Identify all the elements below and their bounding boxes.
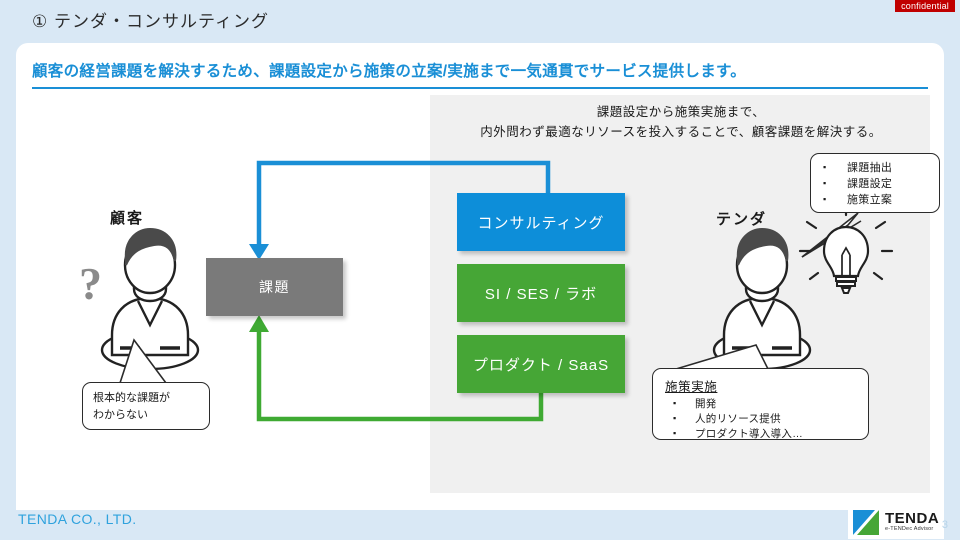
slide-card: 顧客の経営課題を解決するため、課題設定から施策の立案/実施まで一気通貫でサービス… xyxy=(16,43,944,510)
customer-pain-line-2: わからない xyxy=(93,407,209,424)
footer-company-name: TENDA CO., LTD. xyxy=(18,511,137,527)
tenda-logo-mark-icon xyxy=(853,510,879,535)
execution-callout: 施策実施 開発 人的リソース提供 プロダクト導入導入… xyxy=(652,368,869,440)
tenda-label: テンダ xyxy=(716,208,767,229)
customer-pain-callout: 根本的な課題が わからない xyxy=(82,382,210,430)
customer-label: 顧客 xyxy=(110,207,144,228)
service-box-si-ses-lab[interactable]: SI / SES / ラボ xyxy=(457,264,625,322)
tenda-logo-tagline: e-TENDec Advisor xyxy=(885,527,939,533)
consulting-tasks-list: 課題抽出 課題設定 施策立案 xyxy=(811,160,939,208)
page-number: 3 xyxy=(942,519,948,531)
confidential-badge: confidential xyxy=(895,0,955,12)
list-item: 課題抽出 xyxy=(811,160,939,176)
issue-box: 課題 xyxy=(206,258,343,316)
customer-person-icon xyxy=(102,229,198,383)
customer-pain-line-1: 根本的な課題が xyxy=(93,390,209,407)
list-item: 施策立案 xyxy=(811,192,939,208)
tenda-logo: TENDA e-TENDec Advisor xyxy=(848,505,944,539)
list-item: 人的リソース提供 xyxy=(665,412,868,427)
service-box-consulting[interactable]: コンサルティング xyxy=(457,193,625,251)
execution-tasks-list: 開発 人的リソース提供 プロダクト導入導入… xyxy=(665,397,868,442)
page-title: ① テンダ・コンサルティング xyxy=(32,7,269,32)
list-item: プロダクト導入導入… xyxy=(665,427,868,442)
tenda-logo-name: TENDA xyxy=(885,511,939,526)
list-item: 課題設定 xyxy=(811,176,939,192)
tenda-logo-text: TENDA e-TENDec Advisor xyxy=(885,511,939,533)
consulting-tasks-callout: 課題抽出 課題設定 施策立案 xyxy=(810,153,940,213)
list-item: 開発 xyxy=(665,397,868,412)
question-mark-icon: ? xyxy=(79,261,102,307)
service-box-product-saas[interactable]: プロダクト / SaaS xyxy=(457,335,625,393)
execution-callout-title: 施策実施 xyxy=(665,376,717,395)
